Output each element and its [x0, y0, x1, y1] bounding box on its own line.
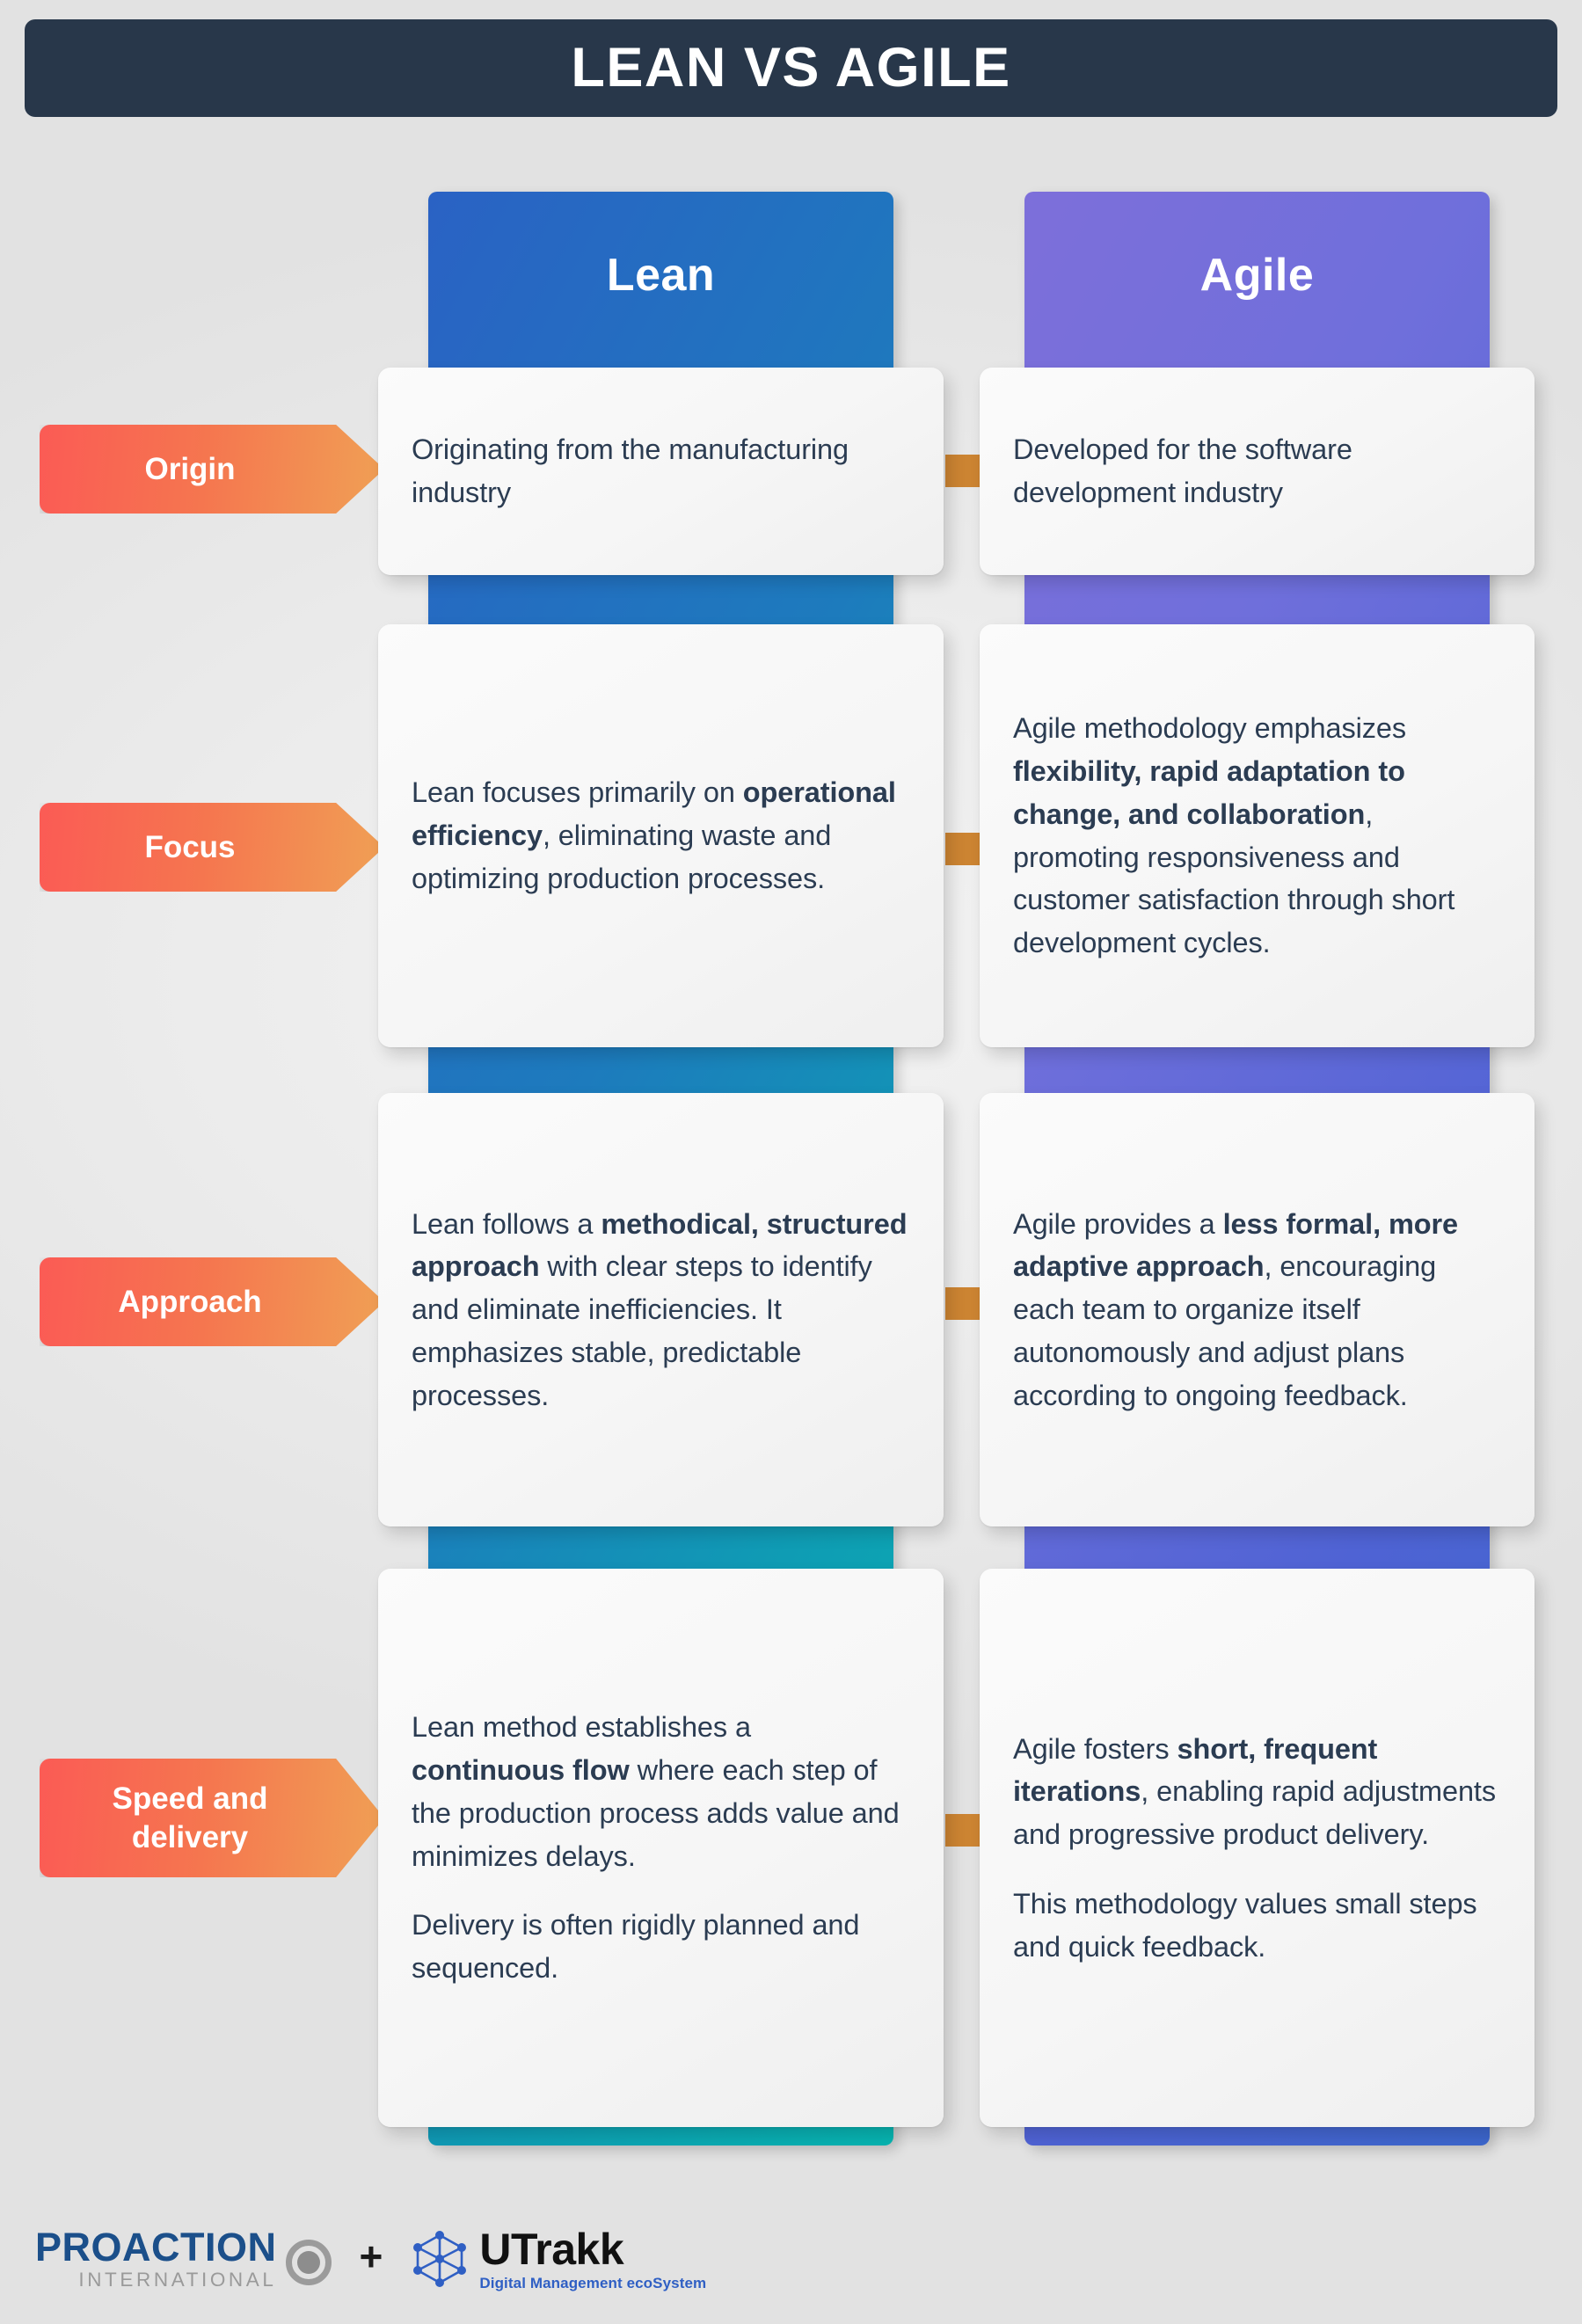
connector-bar-approach [945, 1287, 980, 1320]
card-paragraph: Lean follows a methodical, structured ap… [412, 1203, 910, 1417]
connector-bar-origin [945, 455, 980, 487]
row-label-focus-text: Focus [144, 828, 235, 867]
card-lean-speed-and-delivery: Lean method establishes a continuous flo… [378, 1569, 944, 2127]
proaction-tagline: INTERNATIONAL [35, 2270, 277, 2291]
utrakk-tagline: Digital Management ecoSystem [479, 2276, 706, 2291]
column-header-agile-label: Agile [1200, 249, 1315, 302]
column-header-lean-label: Lean [607, 249, 715, 302]
card-paragraph: Agile provides a less formal, more adapt… [1013, 1203, 1501, 1417]
card-lean-focus: Lean focuses primarily on operational ef… [378, 624, 944, 1047]
row-label-approach: Approach [40, 1257, 384, 1346]
utrakk-network-icon [411, 2230, 469, 2288]
row-label-origin-text: Origin [144, 450, 235, 489]
body-text: Delivery is often rigidly planned and se… [412, 1909, 859, 1984]
card-agile-origin: Developed for the software development i… [980, 368, 1535, 575]
card-paragraph: Lean focuses primarily on operational ef… [412, 771, 910, 900]
proaction-spiral-icon [286, 2240, 332, 2285]
plus-sign: + [360, 2233, 383, 2280]
body-text: Developed for the software development i… [1013, 433, 1352, 508]
card-paragraph: Developed for the software development i… [1013, 428, 1501, 514]
card-lean-origin: Originating from the manufacturing indus… [378, 368, 944, 575]
emphasis-text: continuous flow [412, 1754, 630, 1786]
card-agile-approach: Agile provides a less formal, more adapt… [980, 1093, 1535, 1526]
body-text: Lean follows a [412, 1208, 601, 1240]
connector-bar-speed-and-delivery [945, 1814, 980, 1847]
card-paragraph: Lean method establishes a continuous flo… [412, 1706, 910, 1877]
utrakk-logo: UTrakk Digital Management ecoSystem [411, 2227, 706, 2291]
page-title: LEAN VS AGILE [571, 40, 1010, 96]
card-agile-focus: Agile methodology emphasizes flexibility… [980, 624, 1535, 1047]
infographic-page: LEAN VS AGILE Lean Agile Origin Focus Ap… [0, 0, 1582, 2324]
card-paragraph: Delivery is often rigidly planned and se… [412, 1904, 910, 1990]
row-label-speed-and-delivery-text: Speed and delivery [113, 1780, 268, 1857]
body-text: Agile methodology emphasizes [1013, 712, 1406, 744]
body-text: Agile fosters [1013, 1733, 1177, 1765]
utrakk-name: UTrakk [479, 2227, 706, 2271]
title-bar: LEAN VS AGILE [25, 19, 1557, 117]
card-paragraph: This methodology values small steps and … [1013, 1883, 1501, 1969]
proaction-logo: PROACTION INTERNATIONAL [35, 2227, 332, 2291]
column-header-lean: Lean [428, 192, 893, 359]
card-paragraph: Agile methodology emphasizes flexibility… [1013, 707, 1501, 965]
row-label-origin: Origin [40, 425, 384, 514]
utrakk-wordmark: UTrakk Digital Management ecoSystem [479, 2227, 706, 2291]
emphasis-text: flexibility, rapid adaptation to change,… [1013, 755, 1405, 830]
card-paragraph: Originating from the manufacturing indus… [412, 428, 910, 514]
body-text: This methodology values small steps and … [1013, 1888, 1477, 1963]
column-header-agile: Agile [1024, 192, 1490, 359]
connector-bar-focus [945, 833, 980, 865]
row-label-focus: Focus [40, 803, 384, 892]
body-text: Lean method establishes a [412, 1711, 751, 1743]
footer: PROACTION INTERNATIONAL + [0, 2194, 1582, 2324]
body-text: Originating from the manufacturing indus… [412, 433, 849, 508]
row-label-speed-and-delivery: Speed and delivery [40, 1759, 384, 1877]
row-label-approach-text: Approach [118, 1283, 261, 1322]
proaction-name: PROACTION [35, 2227, 277, 2267]
body-text: Agile provides a [1013, 1208, 1223, 1240]
card-agile-speed-and-delivery: Agile fosters short, frequent iterations… [980, 1569, 1535, 2127]
body-text: Lean focuses primarily on [412, 776, 743, 808]
proaction-wordmark: PROACTION INTERNATIONAL [35, 2227, 277, 2291]
card-paragraph: Agile fosters short, frequent iterations… [1013, 1728, 1501, 1856]
card-lean-approach: Lean follows a methodical, structured ap… [378, 1093, 944, 1526]
